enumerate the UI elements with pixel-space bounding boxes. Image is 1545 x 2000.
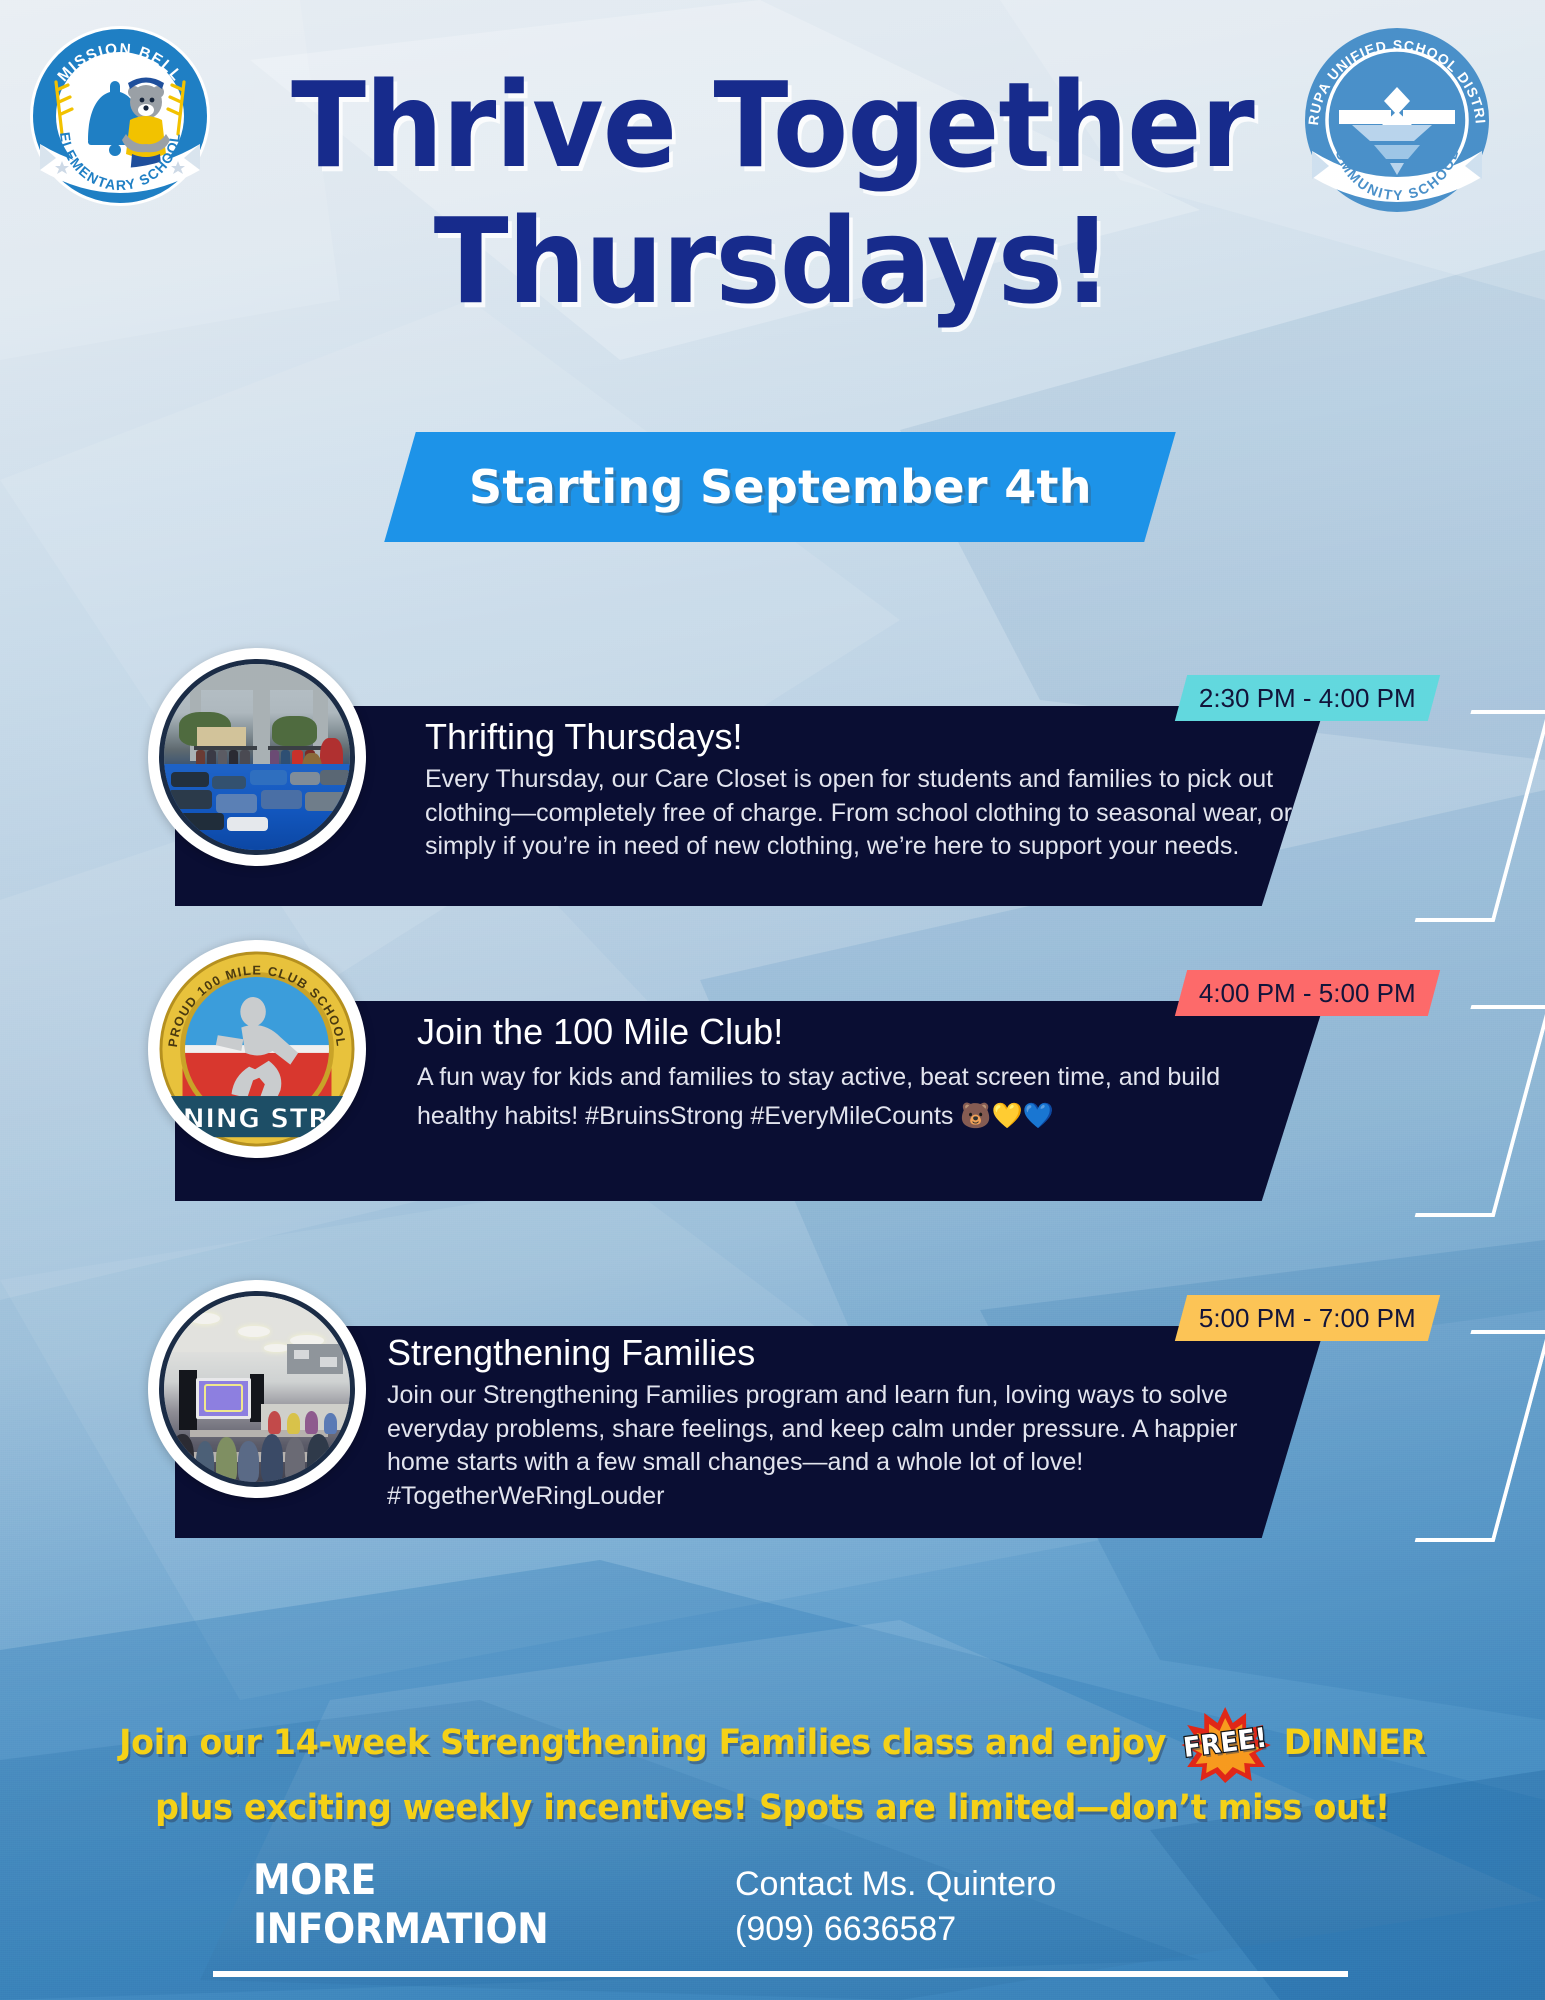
time-badge-label: 5:00 PM - 7:00 PM — [1199, 1303, 1416, 1334]
start-date-banner: Starting September 4th — [384, 432, 1176, 542]
more-information-line-1: MORE — [253, 1856, 548, 1905]
more-information-line-2: INFORMATION — [253, 1905, 548, 1954]
promo-block: Join our 14-week Strengthening Families … — [0, 1705, 1545, 1834]
promo-line-1: Join our 14-week Strengthening Families … — [39, 1705, 1507, 1783]
mile-logo-banner-text: RUNNING STRONG — [159, 1103, 355, 1134]
card-photo-strengthening — [148, 1280, 366, 1498]
100-mile-club-running-strong-logo: PROUD 100 MILE CLUB SCHOOL RUNNING STRON… — [159, 951, 355, 1147]
contact-phone: (909) 6636587 — [735, 1907, 1056, 1952]
card-photo-thrifting — [148, 648, 366, 866]
card-title: Join the 100 Mile Club! — [417, 1011, 1297, 1052]
event-card-100-mile-club: 4:00 PM - 5:00 PM Join the 100 Mile Club… — [175, 985, 1495, 1203]
footer-divider — [213, 1971, 1348, 1977]
card-photo-mile-club: PROUD 100 MILE CLUB SCHOOL RUNNING STRON… — [148, 940, 366, 1158]
contact-info: Contact Ms. Quintero (909) 6636587 — [735, 1862, 1056, 1952]
card-description: Join our Strengthening Families program … — [387, 1379, 1267, 1513]
card-title: Thrifting Thursdays! — [425, 716, 1305, 757]
promo-text-after: DINNER — [1284, 1723, 1426, 1763]
card-body: Strengthening Families Join our Strength… — [387, 1322, 1267, 1522]
care-closet-clothing-photo — [164, 664, 350, 850]
family-cafeteria-gathering-photo — [164, 1296, 350, 1482]
card-body: Join the 100 Mile Club! A fun way for ki… — [417, 1001, 1297, 1201]
card-body: Thrifting Thursdays! Every Thursday, our… — [425, 706, 1305, 906]
jurupa-unified-school-district-logo: JURUPA UNIFIED SCHOOL DISTRICT COMMUNITY… — [1302, 25, 1492, 215]
promo-text-before: Join our 14-week Strengthening Families … — [119, 1723, 1166, 1763]
time-badge-label: 4:00 PM - 5:00 PM — [1199, 978, 1416, 1009]
time-badge-mile-club: 4:00 PM - 5:00 PM — [1175, 970, 1440, 1016]
time-badge-thrifting: 2:30 PM - 4:00 PM — [1175, 675, 1440, 721]
card-description: A fun way for kids and families to stay … — [417, 1058, 1297, 1136]
card-description: Every Thursday, our Care Closet is open … — [425, 763, 1305, 864]
start-date-label: Starting September 4th — [469, 460, 1092, 514]
time-badge-strengthening: 5:00 PM - 7:00 PM — [1175, 1295, 1440, 1341]
card-title: Strengthening Families — [387, 1332, 1267, 1373]
event-card-strengthening-families: 5:00 PM - 7:00 PM Strengthening Families… — [175, 1310, 1495, 1540]
contact-name: Contact Ms. Quintero — [735, 1862, 1056, 1907]
promo-line-2: plus exciting weekly incentives! Spots a… — [39, 1783, 1507, 1834]
footer-block: MORE INFORMATION Contact Ms. Quintero (9… — [0, 1852, 1545, 2000]
more-information-heading: MORE INFORMATION — [253, 1856, 548, 1953]
free-starburst-icon: FREE! — [1179, 1705, 1270, 1783]
mission-bell-elementary-logo: MISSION BELL ELEMENTARY SCHOOL — [26, 22, 214, 210]
time-badge-label: 2:30 PM - 4:00 PM — [1199, 683, 1416, 714]
event-card-thrifting-thursdays: 2:30 PM - 4:00 PM Thrifting Thursdays! E… — [175, 690, 1495, 908]
